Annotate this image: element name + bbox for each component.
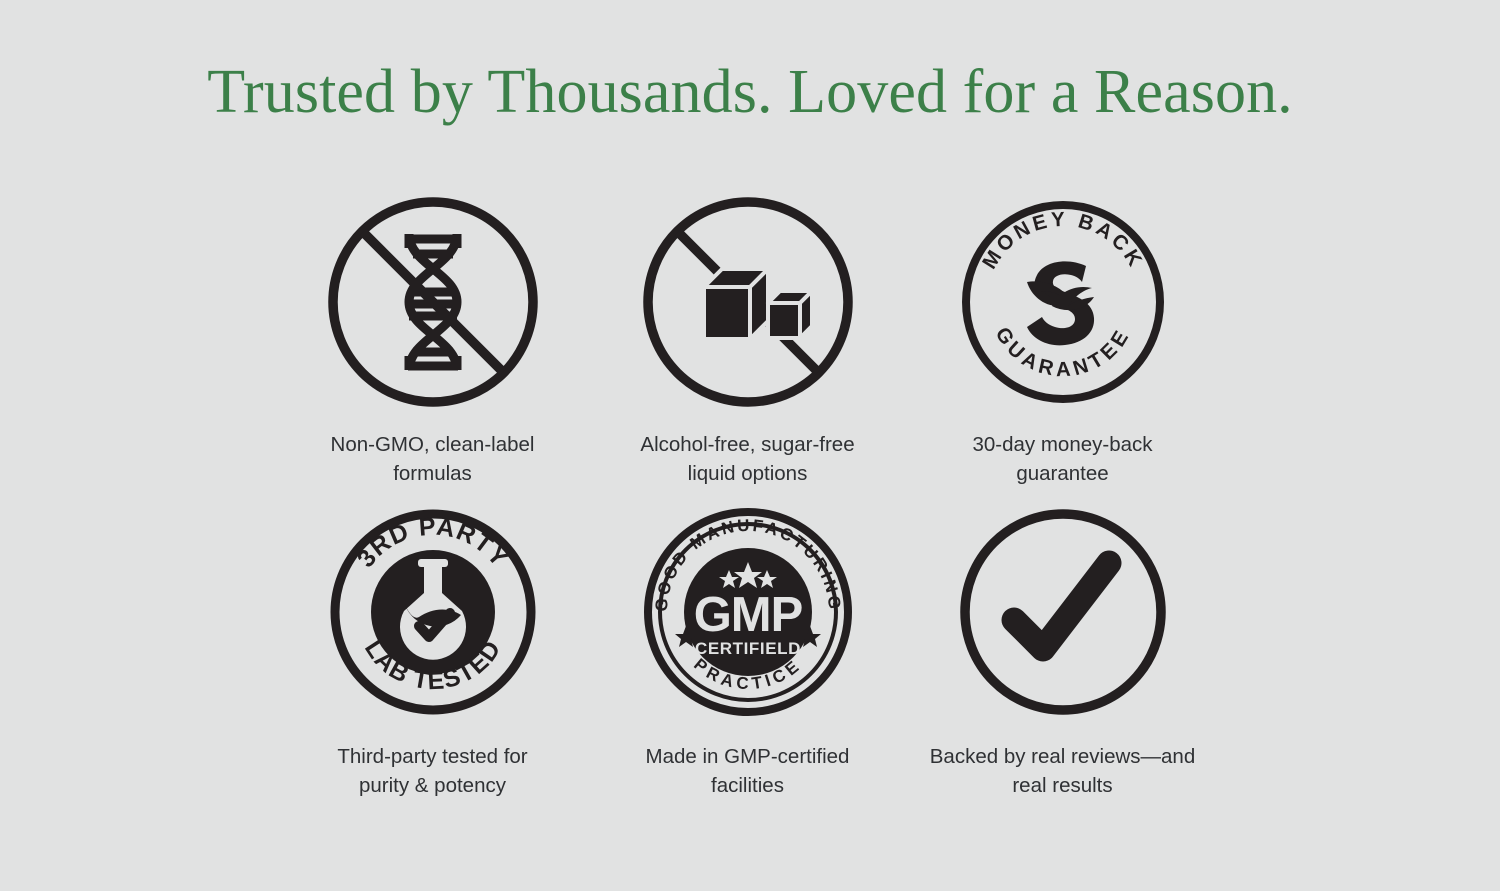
trust-badge-caption: 30-day money-back guarantee	[972, 430, 1152, 488]
trust-badge-caption: Third-party tested for purity & potency	[337, 742, 527, 800]
trust-badge-caption: Alcohol-free, sugar-free liquid options	[640, 430, 854, 488]
no-sugar-cubes-icon	[642, 196, 854, 408]
trust-badge-item: Backed by real reviews—and real results	[905, 506, 1220, 816]
trust-badge-item: MONEY BACK GUARANTEE 30-day money-back g…	[905, 196, 1220, 506]
trust-badge-caption: Backed by real reviews—and real results	[930, 742, 1196, 800]
trust-badge-item: 3RD PARTY LAB TESTED Third-par	[275, 506, 590, 816]
no-gmo-dna-icon	[327, 196, 539, 408]
trust-badge-item: Non-GMO, clean-label formulas	[275, 196, 590, 506]
trust-badge-item: GOOD MANUFACTURING PRACTICE	[590, 506, 905, 816]
gmp-center-text: GMP	[693, 588, 802, 642]
checkmark-circle-icon	[957, 506, 1169, 718]
gmp-sub-text: CERTIFIELD	[694, 639, 800, 658]
third-party-lab-tested-seal-icon: 3RD PARTY LAB TESTED	[327, 506, 539, 718]
gmp-certified-seal-icon: GOOD MANUFACTURING PRACTICE	[642, 506, 854, 718]
money-back-guarantee-seal-icon: MONEY BACK GUARANTEE	[957, 196, 1169, 408]
trust-badge-item: Alcohol-free, sugar-free liquid options	[590, 196, 905, 506]
page-title: Trusted by Thousands. Loved for a Reason…	[0, 58, 1500, 126]
trust-badge-grid: Non-GMO, clean-label formulas	[275, 196, 1220, 816]
trust-badge-caption: Made in GMP-certified facilities	[646, 742, 850, 800]
trust-badge-caption: Non-GMO, clean-label formulas	[331, 430, 535, 488]
trust-badges-section: Trusted by Thousands. Loved for a Reason…	[0, 0, 1500, 891]
